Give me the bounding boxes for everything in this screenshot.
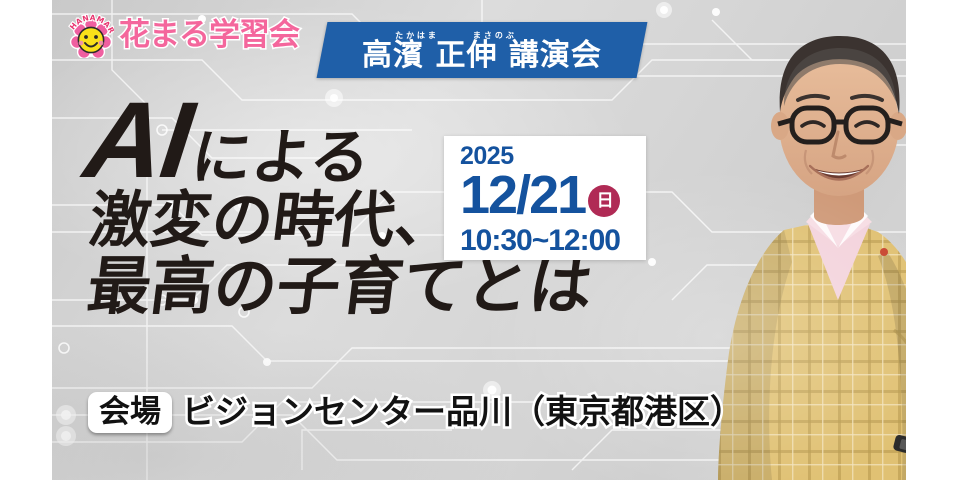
headline-line-1-suffix: による <box>188 128 374 188</box>
venue-name: ビジョンセンター品川（東京都港区） <box>182 395 743 430</box>
poster-root: HANAMARU 花まる学習会 たかはま まさのぶ 高濱 正伸 講演会 AI に… <box>0 0 960 480</box>
speaker-banner: たかはま まさのぶ 高濱 正伸 講演会 <box>317 22 648 78</box>
venue-label: 会場 <box>88 392 172 433</box>
right-white-band <box>906 0 960 480</box>
headline-line-3: 最高の子育てとは <box>84 255 596 318</box>
headline-ai-word: AI <box>79 86 196 194</box>
event-time: 10:30~12:00 <box>460 226 646 256</box>
event-date: 12/21 <box>460 170 585 222</box>
brand-logo: HANAMARU 花まる学習会 <box>68 12 299 58</box>
brand-logo-text: 花まる学習会 <box>119 20 299 51</box>
event-weekday-badge: 日 <box>588 185 620 217</box>
left-white-band <box>0 0 52 480</box>
venue-row: 会場 ビジョンセンター品川（東京都港区） <box>88 392 743 433</box>
speaker-banner-title: 高濱 正伸 講演会 <box>362 41 602 71</box>
event-date-row: 12/21 日 <box>460 170 646 222</box>
event-date-card: 2025 12/21 日 10:30~12:00 <box>444 136 646 260</box>
hanamaru-flower-mascot-icon: HANAMARU <box>68 12 114 58</box>
